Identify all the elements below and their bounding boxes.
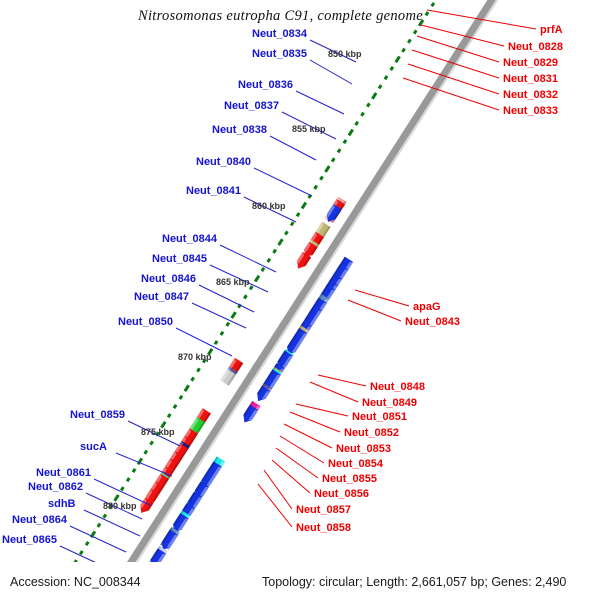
tick-dash (279, 239, 283, 245)
tick-dash (185, 385, 189, 391)
gene-label-reverse[interactable]: Neut_0848 (370, 381, 425, 393)
tick-dash (174, 405, 176, 408)
leader-line (310, 60, 352, 84)
tick-dash (133, 469, 135, 472)
gene-label-forward[interactable]: Neut_0861 (36, 467, 91, 479)
gene-label-forward[interactable]: Neut_0864 (12, 514, 68, 526)
tick-dash (104, 514, 106, 517)
gene-label-forward[interactable]: Neut_0837 (224, 100, 279, 112)
accession-label: Accession: NC_008344 (10, 575, 141, 589)
tick-dash (121, 487, 123, 490)
tick-dash (244, 295, 246, 298)
gene-label-forward[interactable]: Neut_0834 (252, 28, 308, 40)
tick-dash (86, 542, 88, 545)
gene-label-reverse[interactable]: Neut_0852 (344, 427, 399, 439)
gene-label-forward[interactable]: Neut_0844 (162, 233, 218, 245)
gene-label-forward[interactable]: Neut_0835 (252, 48, 307, 60)
leader-line (290, 412, 340, 432)
gene-label-reverse[interactable]: Neut_0855 (322, 473, 377, 485)
tick-dash (221, 332, 223, 335)
gene-label-forward[interactable]: Neut_0845 (152, 253, 207, 265)
tick-dash (385, 76, 387, 79)
gene-label-reverse[interactable]: Neut_0828 (508, 41, 563, 53)
gene-label-forward[interactable]: Neut_0836 (238, 79, 293, 91)
tick-dash (268, 259, 270, 262)
tick-dash (227, 323, 229, 326)
tick-dash (356, 122, 358, 125)
gene-label-reverse[interactable]: apaG (413, 301, 441, 313)
gene-label-reverse[interactable]: Neut_0849 (362, 397, 417, 409)
tick-dash (180, 396, 182, 399)
tick-dash (145, 451, 147, 454)
tick-dash (408, 39, 410, 42)
tick-dash (320, 176, 322, 179)
tick-dash (338, 149, 340, 152)
leader-line (264, 470, 292, 509)
leader-line (116, 453, 172, 476)
tick-dash (414, 30, 416, 33)
leader-line (254, 168, 312, 196)
gene-label-reverse[interactable]: Neut_0858 (296, 522, 351, 534)
tick-dash (332, 158, 334, 161)
tick-dash (151, 441, 153, 444)
gene-label-forward[interactable]: sucA (80, 441, 107, 453)
leader-line (318, 375, 366, 386)
tick-dash (115, 495, 119, 501)
tick-dash (197, 368, 199, 371)
gene-label-reverse[interactable]: Neut_0843 (405, 316, 460, 328)
leader-line (310, 382, 358, 402)
gene-labels-forward[interactable]: Neut_0834Neut_0835Neut_0836Neut_0837Neut… (2, 28, 308, 546)
gene-label-reverse[interactable]: Neut_0857 (296, 504, 351, 516)
tick-dash (391, 67, 393, 70)
leader-lines-forward (60, 40, 356, 572)
tick-dash (302, 203, 306, 209)
gene-track-forward[interactable] (149, 257, 353, 568)
axis-tick-label: 870 kbp (178, 352, 212, 362)
gene-feature[interactable] (201, 461, 222, 488)
tick-dash (344, 140, 346, 143)
tick-dash (372, 93, 376, 99)
leader-line (296, 91, 344, 114)
gene-label-forward[interactable]: Neut_0847 (134, 291, 189, 303)
leader-line (296, 404, 348, 416)
leader-line (276, 448, 318, 478)
tick-dash (98, 524, 100, 527)
tick-dash (402, 49, 404, 52)
gene-label-reverse[interactable]: Neut_0853 (336, 443, 391, 455)
tick-dash (315, 186, 317, 189)
gene-label-reverse[interactable]: prfA (540, 24, 563, 36)
leader-line (258, 484, 292, 527)
tick-dash (367, 103, 369, 106)
tick-dash (432, 3, 434, 6)
tick-dash (168, 414, 170, 417)
tick-dash (297, 213, 299, 216)
tick-dash (285, 231, 287, 234)
genome-summary-label: Topology: circular; Length: 2,661,057 bp… (262, 575, 566, 589)
gene-label-forward[interactable]: Neut_0841 (186, 185, 241, 197)
tick-dash (255, 276, 259, 282)
gene-label-forward[interactable]: Neut_0838 (212, 124, 267, 136)
leader-line (70, 526, 126, 552)
gene-label-reverse[interactable]: Neut_0831 (503, 73, 558, 85)
leader-line (403, 78, 499, 110)
tick-dash (349, 130, 353, 136)
axis-tick-label: 865 kbp (216, 277, 250, 287)
leader-line (270, 136, 316, 160)
gene-label-reverse[interactable]: Neut_0856 (314, 488, 369, 500)
axis-tick-label: 855 kbp (292, 124, 326, 134)
tick-dash (379, 85, 381, 88)
tick-dash (80, 551, 82, 554)
gene-label-reverse[interactable]: Neut_0854 (328, 458, 384, 470)
tick-dash (215, 341, 217, 344)
gene-label-forward[interactable]: Neut_0840 (196, 156, 251, 168)
axis-tick-label: 880 kbp (103, 501, 137, 511)
tick-dash (426, 12, 428, 15)
genome-map-canvas[interactable]: 850 kbp855 kbp860 kbp865 kbp870 kbp875 k… (0, 0, 600, 600)
axis-tick-label: 875 kbp (141, 427, 175, 437)
tick-dash (127, 478, 129, 481)
gene-label-forward[interactable]: Neut_0862 (28, 481, 83, 493)
gene-label-forward[interactable]: Neut_0846 (141, 273, 196, 285)
tick-dash (291, 222, 293, 225)
gene-label-forward[interactable]: Neut_0850 (118, 316, 173, 328)
genome-map-viewer: 850 kbp855 kbp860 kbp865 kbp870 kbp875 k… (0, 0, 600, 600)
gene-label-forward[interactable]: Neut_0865 (2, 534, 57, 546)
axis-tick-label: 860 kbp (252, 201, 286, 211)
gene-label-reverse[interactable]: Neut_0851 (352, 411, 407, 423)
tick-dash (192, 377, 194, 380)
gene-label-forward[interactable]: Neut_0859 (70, 409, 125, 421)
leader-line (280, 436, 324, 463)
tick-dash (325, 166, 329, 172)
leader-line (272, 460, 310, 493)
gene-label-forward[interactable]: sdhB (48, 498, 76, 510)
tick-dash (262, 268, 264, 271)
gene-label-reverse[interactable]: Neut_0829 (503, 57, 558, 69)
tick-dash (396, 56, 400, 62)
leader-lines-reverse (258, 10, 536, 527)
gene-label-reverse[interactable]: Neut_0833 (503, 105, 558, 117)
tick-dash (274, 250, 276, 253)
leader-line (348, 300, 401, 321)
gene-label-reverse[interactable]: Neut_0832 (503, 89, 558, 101)
tick-dash (250, 286, 252, 289)
leader-line (220, 245, 276, 272)
gene-feature[interactable] (287, 328, 308, 355)
axis-tick-label: 850 kbp (328, 49, 362, 59)
tick-dash (361, 113, 363, 116)
leader-line (355, 290, 409, 306)
tick-dash (232, 312, 236, 318)
leader-line (284, 424, 332, 448)
page-title: Nitrosomonas eutropha C91, complete geno… (137, 8, 423, 24)
